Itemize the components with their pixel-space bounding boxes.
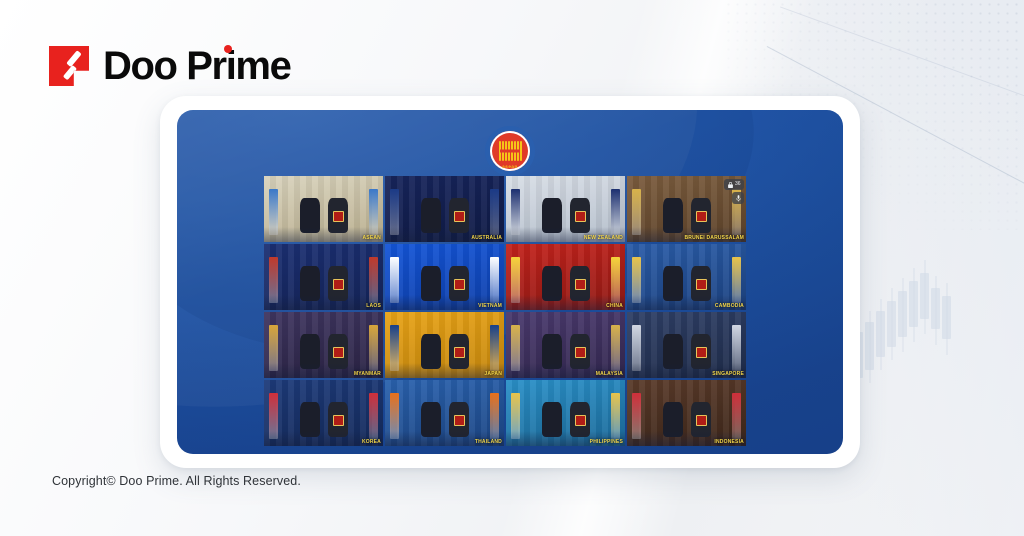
signed-agreement-document bbox=[696, 211, 707, 222]
video-tile-australia[interactable]: AUSTRALIA bbox=[385, 176, 504, 242]
signed-agreement-document bbox=[454, 279, 465, 290]
video-tile-cambodia[interactable]: CAMBODIA bbox=[627, 244, 746, 310]
signed-agreement-document bbox=[454, 211, 465, 222]
video-tile-indonesia[interactable]: INDONESIA bbox=[627, 380, 746, 446]
country-label: LAOS bbox=[366, 303, 381, 309]
video-tile-thailand[interactable]: THAILAND bbox=[385, 380, 504, 446]
country-label: ASEAN bbox=[362, 235, 381, 241]
country-label: MYANMAR bbox=[354, 371, 381, 377]
country-label: PHILIPPINES bbox=[590, 439, 623, 445]
country-label: SINGAPORE bbox=[712, 371, 744, 377]
microphone-icon bbox=[736, 195, 741, 202]
video-tile-japan[interactable]: JAPAN bbox=[385, 312, 504, 378]
country-label: CAMBODIA bbox=[715, 303, 744, 309]
video-tile-brunei-darussalam[interactable]: 36BRUNEI DARUSSALAM bbox=[627, 176, 746, 242]
video-tile-malaysia[interactable]: MALAYSIA bbox=[506, 312, 625, 378]
country-label: KOREA bbox=[362, 439, 381, 445]
logo-slash-upper bbox=[66, 50, 81, 67]
signed-agreement-document bbox=[696, 279, 707, 290]
country-label: AUSTRALIA bbox=[471, 235, 502, 241]
copyright-notice: Copyright© Doo Prime. All Rights Reserve… bbox=[52, 474, 301, 488]
country-label: MALAYSIA bbox=[596, 371, 623, 377]
signed-agreement-document bbox=[575, 347, 586, 358]
brand-logo: Doo Prime bbox=[49, 46, 290, 86]
participants-chip[interactable]: 36 bbox=[724, 179, 744, 190]
country-label: BRUNEI DARUSSALAM bbox=[684, 235, 744, 241]
asean-emblem-disc: asean bbox=[490, 131, 530, 171]
asean-emblem-caption: asean bbox=[490, 164, 530, 169]
country-label: VIETNAM bbox=[478, 303, 502, 309]
microphone-chip[interactable] bbox=[732, 192, 744, 204]
lock-icon bbox=[728, 182, 733, 188]
signed-agreement-document bbox=[333, 279, 344, 290]
signed-agreement-document bbox=[454, 415, 465, 426]
country-label: NEW ZEALAND bbox=[584, 235, 623, 241]
signed-agreement-document bbox=[333, 415, 344, 426]
asean-stalk-binding bbox=[500, 150, 520, 153]
signed-agreement-document bbox=[696, 347, 707, 358]
video-tile-china[interactable]: CHINA bbox=[506, 244, 625, 310]
signed-agreement-document bbox=[333, 211, 344, 222]
video-tile-singapore[interactable]: SINGAPORE bbox=[627, 312, 746, 378]
signed-agreement-document bbox=[454, 347, 465, 358]
participants-count: 36 bbox=[735, 182, 741, 187]
signed-agreement-document bbox=[575, 211, 586, 222]
video-tile-philippines[interactable]: PHILIPPINES bbox=[506, 380, 625, 446]
video-call-grid: ASEANAUSTRALIANEW ZEALAND36BRUNEI DARUSS… bbox=[264, 176, 746, 446]
country-label: JAPAN bbox=[484, 371, 502, 377]
signed-agreement-document bbox=[575, 415, 586, 426]
logo-accent-dot-icon bbox=[224, 45, 232, 53]
conference-screen: asean ASEANAUSTRALIANEW ZEALAND36BRUNEI … bbox=[177, 110, 843, 454]
brand-name-text: Doo Prime bbox=[103, 44, 290, 88]
video-tile-myanmar[interactable]: MYANMAR bbox=[264, 312, 383, 378]
signed-agreement-document bbox=[575, 279, 586, 290]
call-overlay-chips: 36 bbox=[724, 179, 744, 204]
video-tile-new-zealand[interactable]: NEW ZEALAND bbox=[506, 176, 625, 242]
signed-agreement-document bbox=[333, 347, 344, 358]
video-tile-vietnam[interactable]: VIETNAM bbox=[385, 244, 504, 310]
device-frame: asean ASEANAUSTRALIANEW ZEALAND36BRUNEI … bbox=[160, 96, 860, 468]
country-label: THAILAND bbox=[475, 439, 502, 445]
logo-slash-lower bbox=[63, 65, 77, 80]
signed-agreement-document bbox=[696, 415, 707, 426]
video-tile-laos[interactable]: LAOS bbox=[264, 244, 383, 310]
video-tile-korea[interactable]: KOREA bbox=[264, 380, 383, 446]
asean-emblem-icon: asean bbox=[485, 126, 535, 176]
brand-name: Doo Prime bbox=[103, 46, 290, 86]
video-tile-asean[interactable]: ASEAN bbox=[264, 176, 383, 242]
country-label: INDONESIA bbox=[714, 439, 744, 445]
asean-rice-stalks-icon bbox=[497, 140, 523, 162]
country-label: CHINA bbox=[606, 303, 623, 309]
doo-prime-mark-icon bbox=[49, 46, 89, 86]
